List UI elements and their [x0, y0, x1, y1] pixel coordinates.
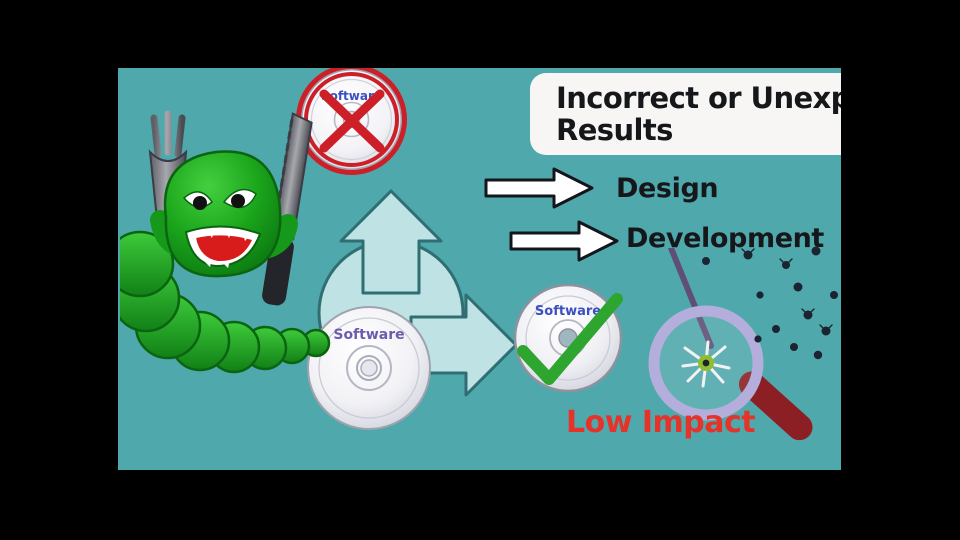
development-arrow-icon [509, 220, 619, 262]
design-arrow-icon [484, 167, 594, 209]
bug-swarm-dots [698, 243, 841, 383]
title-card: Incorrect or Unexpected Results [530, 73, 841, 155]
software-bug-mascot [120, 98, 350, 388]
slide-canvas: Software Software [118, 68, 841, 470]
low-impact-label: Low Impact [566, 405, 755, 440]
green-check-icon [511, 293, 629, 393]
title-line-2: Results [556, 114, 841, 146]
design-label: Design [616, 173, 718, 204]
title-line-1: Incorrect or Unexpected [556, 82, 841, 114]
screenshot-stage: Software Software [0, 0, 960, 540]
